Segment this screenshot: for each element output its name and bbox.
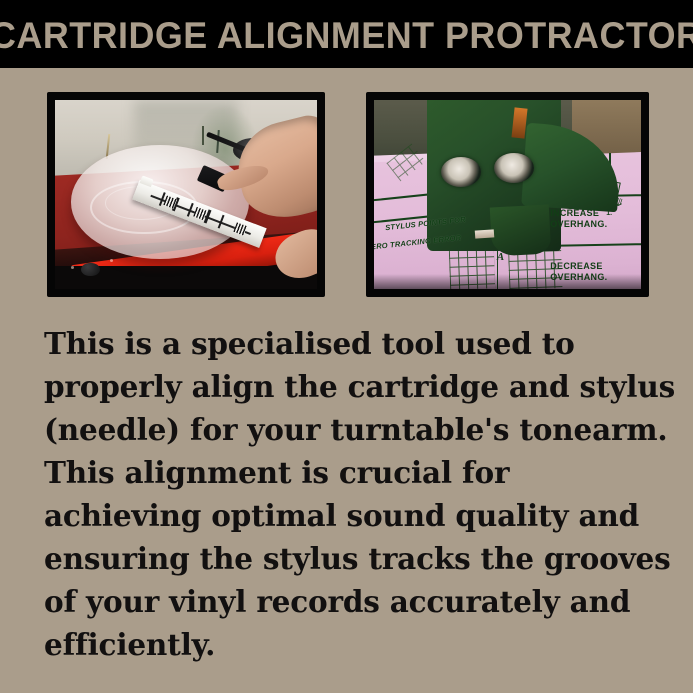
grid-a-label: A [497, 251, 504, 263]
photo-row: ⤋ 1. STYLUS POINTS FOR ZERO TRACKING ERR… [0, 92, 693, 298]
poster-root: CARTRIDGE ALIGNMENT PROTRACTOR [0, 0, 693, 693]
bottom-shadow [374, 274, 641, 289]
cartridge-closeup-photo: ⤋ 1. STYLUS POINTS FOR ZERO TRACKING ERR… [366, 92, 649, 297]
page-title: CARTRIDGE ALIGNMENT PROTRACTOR [0, 15, 693, 54]
description-text: This is a specialised tool used to prope… [44, 322, 676, 666]
mounting-screw [494, 153, 534, 183]
cartridge-scene: ⤋ 1. STYLUS POINTS FOR ZERO TRACKING ERR… [374, 100, 641, 289]
tonearm-rear-post [202, 126, 204, 145]
cartridge-nose [490, 204, 551, 256]
header-bar: CARTRIDGE ALIGNMENT PROTRACTOR [0, 0, 693, 68]
turntable-scene [55, 100, 317, 289]
turntable-knob [81, 263, 99, 276]
mounting-screw [441, 157, 481, 187]
protractor-grid-block [234, 222, 248, 236]
increase-overhang-label: INCREASE OVERHANG. [550, 208, 607, 231]
turntable-protractor-photo [47, 92, 325, 297]
turntable-indicator-dot [110, 259, 113, 262]
